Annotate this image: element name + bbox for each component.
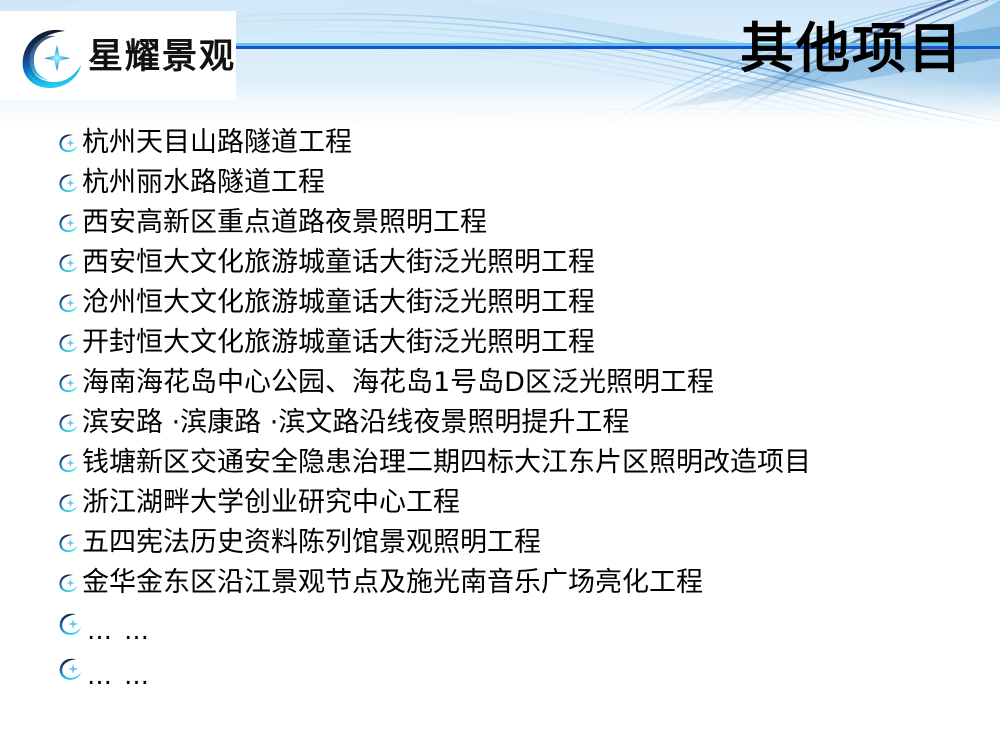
company-logo-plate: 星耀景观 — [0, 11, 236, 100]
crescent-star-bullet-icon — [58, 373, 78, 393]
project-list: 杭州天目山路隧道工程 杭州丽水路隧道工程 西安高新区重点道路夜景照明工程 西安恒… — [58, 126, 958, 696]
list-item: 海南海花岛中心公园、海花岛1号岛D区泛光照明工程 — [58, 366, 958, 406]
crescent-star-bullet-icon — [58, 173, 78, 193]
list-item-label: 西安恒大文化旅游城童话大街泛光照明工程 — [82, 246, 595, 280]
list-item: 浙江湖畔大学创业研究中心工程 — [58, 486, 958, 526]
list-item: 西安高新区重点道路夜景照明工程 — [58, 206, 958, 246]
list-item-label: 金华金东区沿江景观节点及施光南音乐广场亮化工程 — [82, 566, 703, 600]
list-item: 钱塘新区交通安全隐患治理二期四标大江东片区照明改造项目 — [58, 446, 958, 486]
list-item: 杭州天目山路隧道工程 — [58, 126, 958, 166]
crescent-star-bullet-icon — [58, 293, 78, 313]
crescent-star-bullet-icon — [58, 253, 78, 273]
list-item: … … — [58, 651, 958, 696]
list-item: … … — [58, 606, 958, 651]
list-item-label: 海南海花岛中心公园、海花岛1号岛D区泛光照明工程 — [82, 366, 714, 400]
crescent-star-bullet-icon — [58, 573, 78, 593]
crescent-star-bullet-icon — [58, 413, 78, 433]
crescent-star-bullet-icon — [58, 657, 82, 681]
list-item-label: 沧州恒大文化旅游城童话大街泛光照明工程 — [82, 286, 595, 320]
list-item-label: 西安高新区重点道路夜景照明工程 — [82, 206, 487, 240]
list-item: 杭州丽水路隧道工程 — [58, 166, 958, 206]
list-item-label: 五四宪法历史资料陈列馆景观照明工程 — [82, 526, 541, 560]
list-item: 滨安路 ·滨康路 ·滨文路沿线夜景照明提升工程 — [58, 406, 958, 446]
presentation-slide: 星耀景观 其他项目 杭州天目山路隧道工程 杭州丽水路隧道工程 西安高新区重点道路… — [0, 0, 1000, 750]
list-item-label: 滨安路 ·滨康路 ·滨文路沿线夜景照明提升工程 — [82, 406, 629, 440]
logo-wordmark: 星耀景观 — [88, 35, 236, 79]
crescent-star-bullet-icon — [58, 612, 82, 636]
list-item: 金华金东区沿江景观节点及施光南音乐广场亮化工程 — [58, 566, 958, 606]
crescent-star-bullet-icon — [58, 493, 78, 513]
list-item-label: … … — [87, 658, 151, 696]
list-item-label: 钱塘新区交通安全隐患治理二期四标大江东片区照明改造项目 — [82, 446, 811, 480]
crescent-star-bullet-icon — [58, 453, 78, 473]
crescent-star-logo-icon — [12, 25, 86, 91]
list-item-label: 开封恒大文化旅游城童话大街泛光照明工程 — [82, 326, 595, 360]
list-item: 沧州恒大文化旅游城童话大街泛光照明工程 — [58, 286, 958, 326]
list-item-label: 杭州天目山路隧道工程 — [82, 126, 352, 160]
list-item-label: 浙江湖畔大学创业研究中心工程 — [82, 486, 460, 520]
crescent-star-bullet-icon — [58, 213, 78, 233]
page-title: 其他项目 — [740, 14, 964, 84]
list-item: 开封恒大文化旅游城童话大街泛光照明工程 — [58, 326, 958, 366]
list-item-label: 杭州丽水路隧道工程 — [82, 166, 325, 200]
crescent-star-bullet-icon — [58, 133, 78, 153]
list-item: 五四宪法历史资料陈列馆景观照明工程 — [58, 526, 958, 566]
crescent-star-bullet-icon — [58, 533, 78, 553]
crescent-star-bullet-icon — [58, 333, 78, 353]
list-item-label: … … — [87, 613, 151, 651]
list-item: 西安恒大文化旅游城童话大街泛光照明工程 — [58, 246, 958, 286]
